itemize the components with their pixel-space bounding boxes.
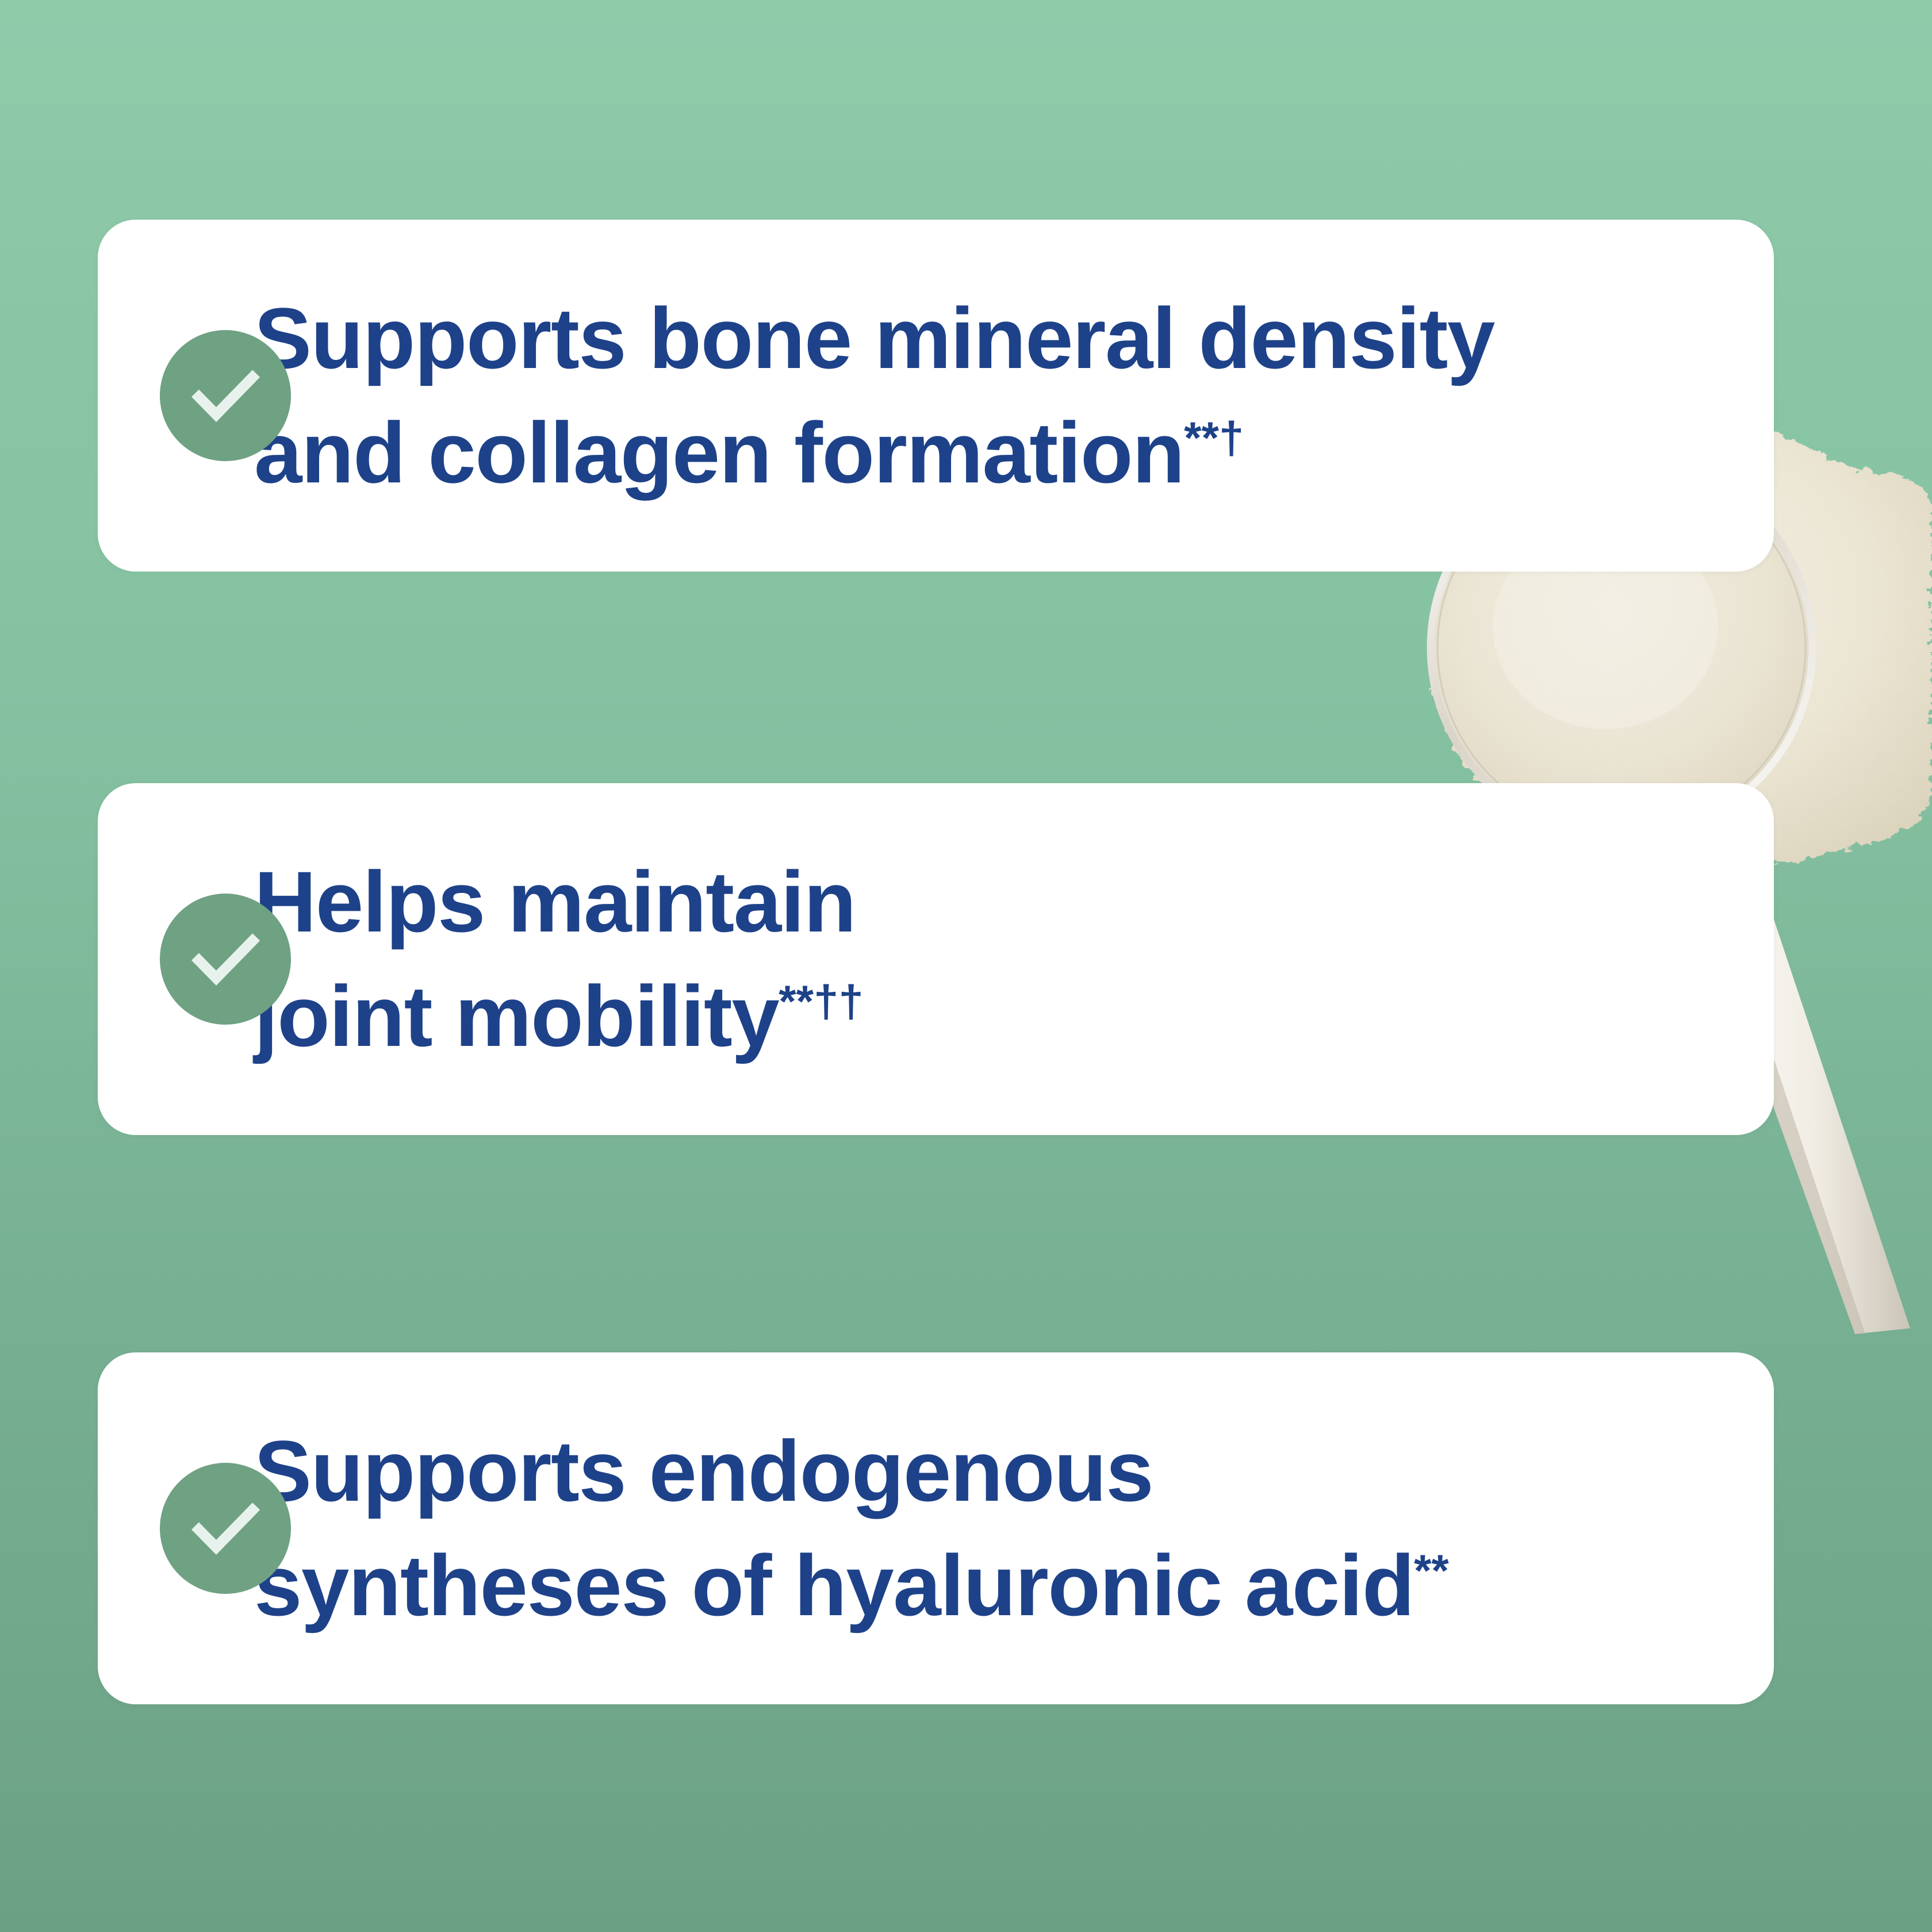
- benefit-line-2: and collagen formation: [254, 404, 1184, 501]
- check-icon: [160, 1463, 291, 1594]
- benefit-card-bone-mineral-density: Supports bone mineral densityand collage…: [98, 220, 1774, 572]
- benefit-line-1: Supports endogenous: [254, 1423, 1153, 1519]
- promo-graphic: Supports bone mineral densityand collage…: [0, 0, 1932, 1932]
- benefit-line-1: Helps maintain: [254, 853, 856, 950]
- benefit-footnote-marker: **††: [779, 976, 863, 1026]
- benefit-line-1: Supports bone mineral density: [254, 290, 1494, 386]
- benefit-text: Helps maintainjoint mobility**††: [254, 845, 864, 1074]
- benefit-text: Supports bone mineral densityand collage…: [254, 281, 1494, 511]
- check-icon: [160, 894, 291, 1025]
- benefit-card-joint-mobility: Helps maintainjoint mobility**††: [98, 783, 1774, 1135]
- benefit-text: Supports endogenoussyntheses of hyaluron…: [254, 1414, 1449, 1643]
- benefit-line-2: syntheses of hyaluronic acid: [254, 1537, 1414, 1634]
- benefit-footnote-marker: **†: [1184, 412, 1244, 463]
- check-icon: [160, 330, 291, 461]
- benefit-footnote-marker: **: [1414, 1545, 1449, 1596]
- benefit-line-2: joint mobility: [254, 968, 779, 1064]
- benefit-card-hyaluronic-acid: Supports endogenoussyntheses of hyaluron…: [98, 1352, 1774, 1704]
